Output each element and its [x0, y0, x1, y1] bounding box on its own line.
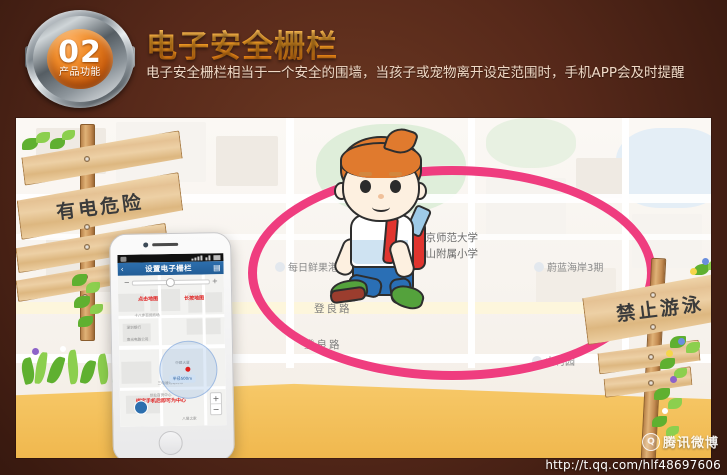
grass-blade: [95, 353, 110, 384]
map-block: [216, 136, 278, 186]
phone-app-title: 设置电子栅栏: [145, 263, 192, 275]
watermark-brand-text: 腾讯微博: [663, 432, 719, 451]
sign-screw: [84, 224, 90, 230]
vine-leaf: [86, 282, 100, 293]
phone-map-label: 深圳银行: [127, 326, 141, 331]
sign-right: 禁止游泳: [574, 258, 711, 458]
boy-nose: [378, 194, 384, 199]
header-section: 02 产品功能 电子安全栅栏 电子安全栅栏相当于一个安全的围墙，当孩子或宠物离开…: [0, 0, 727, 118]
badge-core: 02 产品功能: [47, 29, 113, 89]
badge-inner-ring: 02 产品功能: [33, 16, 127, 102]
vine-leaf: [62, 130, 75, 140]
phone-zoom-controls[interactable]: + −: [210, 392, 222, 415]
sign-screw: [648, 354, 654, 360]
sign-plank-text: 禁止游泳: [581, 271, 711, 345]
vine-leaf: [90, 304, 103, 314]
phone-map-label: 十八步百货商场: [134, 313, 159, 318]
phone-speaker: [152, 243, 178, 246]
boy-eye-right: [390, 180, 401, 193]
boy-eyebrow-right: [389, 172, 402, 176]
step-badge: 02 产品功能: [26, 10, 134, 108]
phone-map-label: 创业百货中心: [150, 393, 172, 398]
phone-center-marker: [185, 367, 190, 372]
signal-icons: [191, 255, 220, 261]
grass-blade: [66, 349, 81, 384]
boy-eyebrow-left: [359, 172, 372, 176]
flower: [666, 350, 673, 357]
phone-home-button[interactable]: [158, 431, 182, 455]
notification-icon: [120, 256, 126, 261]
phone-annotation: 长按地图: [184, 294, 204, 301]
phone-camera-icon: [143, 242, 148, 247]
phone-screen: ‹ 设置电子栅栏 ▤: [117, 253, 226, 427]
sign-screw: [648, 380, 654, 386]
flower: [662, 408, 668, 414]
vine-leaf: [668, 398, 682, 409]
grass-blade: [80, 359, 97, 385]
sign-screw: [650, 324, 656, 330]
badge-number: 02: [58, 39, 102, 66]
sign-left-text: 有电危险: [18, 183, 182, 230]
flower: [678, 338, 685, 345]
grass-blade: [34, 352, 47, 385]
slider-minus-icon[interactable]: −: [124, 279, 130, 287]
phone-map[interactable]: − + 点击地图 长按地图 绑定手机后即可为中心 十八步百货商场 深圳银行 南光…: [118, 274, 227, 427]
back-icon[interactable]: ‹: [121, 265, 124, 274]
illustration-panel: 北京师范大学 南山附属小学 每日鲜果港 蔚蓝海岸3期 山村园 登良路 登良路: [16, 118, 711, 458]
watermark-brand: Q 腾讯微博: [642, 432, 719, 451]
vine-leaf: [654, 388, 670, 400]
page-description: 电子安全栅栏相当于一个安全的围墙，当孩子或宠物离开设定范围时，手机APP会及时提…: [146, 63, 721, 84]
grass-blade: [46, 355, 65, 385]
slider-plus-icon[interactable]: +: [212, 277, 218, 285]
sign-screw: [650, 292, 656, 298]
sign-screw: [84, 244, 90, 250]
sign-screw: [84, 156, 90, 162]
vine-leaf: [652, 416, 667, 427]
tencent-weibo-icon: Q: [642, 433, 660, 451]
flower: [690, 268, 697, 275]
child-illustration: [316, 128, 446, 308]
phone-radius-slider[interactable]: − +: [124, 277, 218, 287]
phone-map-label: 南光电路公司: [127, 337, 149, 342]
zoom-out-button[interactable]: −: [211, 404, 221, 414]
slider-knob[interactable]: [166, 277, 175, 286]
boy-eye-left: [360, 180, 371, 193]
phone-map-label: 八层之家: [182, 417, 196, 422]
boy-mouth: [372, 202, 390, 212]
flower: [32, 348, 39, 355]
badge-caption: 产品功能: [59, 67, 101, 79]
poster-root: 02 产品功能 电子安全栅栏 电子安全栅栏相当于一个安全的围墙，当孩子或宠物离开…: [0, 0, 727, 475]
watermark-url: http://t.qq.com/hlf48697606: [545, 458, 721, 472]
page-title: 电子安全栅栏: [146, 21, 338, 66]
zoom-in-button[interactable]: +: [211, 393, 221, 404]
slider-track[interactable]: [132, 279, 210, 285]
flower: [702, 258, 709, 265]
vine-leaf: [660, 358, 675, 369]
flower: [670, 376, 677, 383]
phone-radius-badge: 半径500m: [169, 375, 195, 383]
map-park-area: [486, 118, 576, 168]
vine-leaf: [36, 132, 50, 143]
flower: [60, 346, 66, 352]
badge-outer-ring: 02 产品功能: [26, 10, 134, 108]
phone-annotation: 点击地图: [138, 295, 158, 302]
sign-right-text: 禁止游泳: [584, 285, 711, 330]
menu-icon[interactable]: ▤: [213, 263, 221, 272]
phone-mockup: ‹ 设置电子栅栏 ▤: [109, 232, 235, 458]
